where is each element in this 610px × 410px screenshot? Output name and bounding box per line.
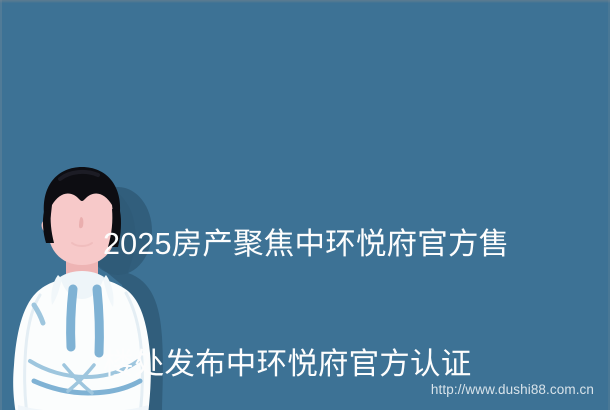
promo-banner: 2025房产聚焦中环悦府官方售 楼处发布中环悦府官方认证 http://www.… [0,0,610,410]
banner-headline: 2025房产聚焦中环悦府官方售 楼处发布中环悦府官方认证 [103,144,555,410]
top-edge-divider [0,0,610,3]
watermark-url: http://www.dushi88.com.cn [431,382,594,397]
drawstring-right [97,289,99,353]
left-edge-divider [0,0,2,410]
headline-line-1: 2025房产聚焦中环悦府官方售 [103,224,555,264]
drawstring-left [71,289,73,347]
headline-line-2: 楼处发布中环悦府官方认证 [103,344,555,384]
